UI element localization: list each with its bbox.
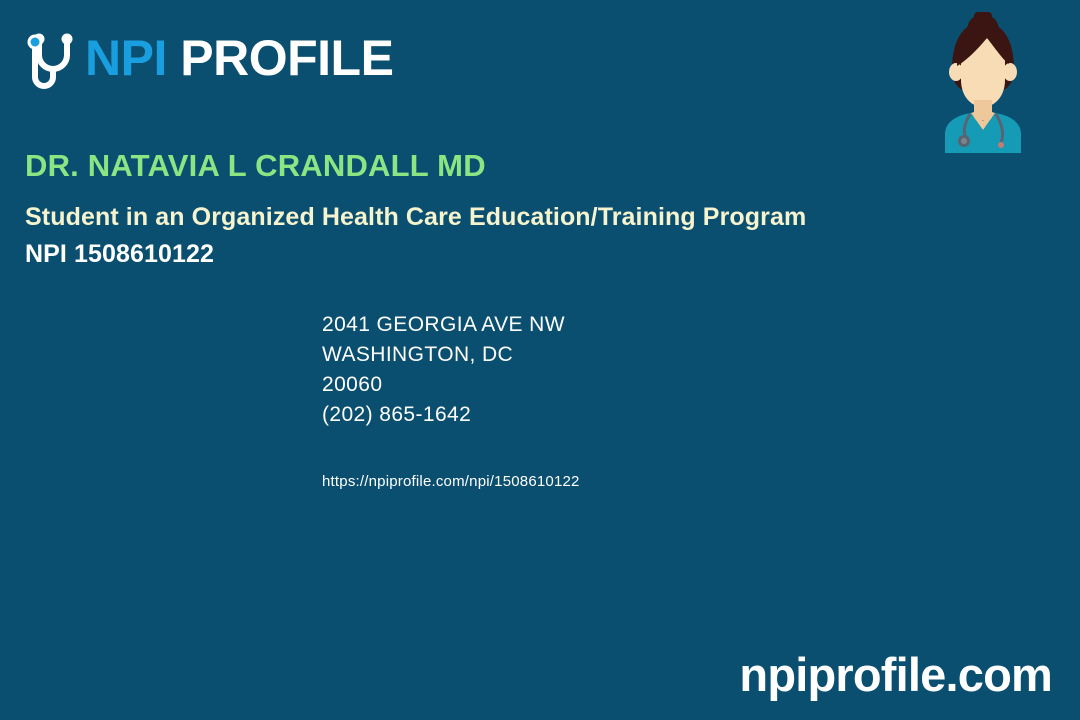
address-block: 2041 GEORGIA AVE NW WASHINGTON, DC 20060… [322, 310, 565, 430]
npi-profile-card: NPI PROFILE [0, 0, 1080, 720]
profile-url[interactable]: https://npiprofile.com/npi/1508610122 [322, 473, 580, 490]
footer-domain: npiprofile.com [739, 651, 1052, 698]
address-line-phone: (202) 865-1642 [322, 400, 565, 430]
stethoscope-icon [25, 25, 85, 91]
female-doctor-avatar-icon [933, 8, 1033, 153]
address-line-street: 2041 GEORGIA AVE NW [322, 310, 565, 340]
brand-title-npi: NPI [85, 30, 167, 86]
brand-title: NPI PROFILE [85, 33, 393, 83]
provider-taxonomy: Student in an Organized Health Care Educ… [25, 203, 806, 232]
address-line-city-state: WASHINGTON, DC [322, 340, 565, 370]
provider-name: DR. NATAVIA L CRANDALL MD [25, 148, 486, 184]
provider-npi-number: NPI 1508610122 [25, 240, 214, 269]
brand-header: NPI PROFILE [25, 22, 393, 94]
brand-title-profile [167, 30, 180, 86]
brand-title-profile-text: PROFILE [180, 30, 393, 86]
address-line-zip: 20060 [322, 370, 565, 400]
